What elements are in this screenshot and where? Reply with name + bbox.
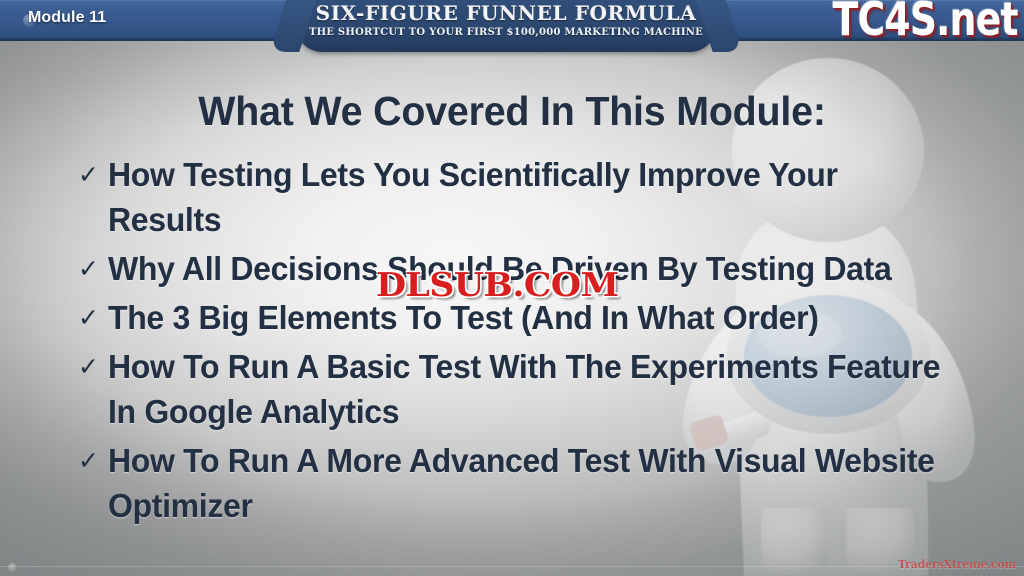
module-label: Module 11 [28, 9, 106, 27]
footer-watermark: TradersXtreme.com [898, 558, 1016, 571]
covered-topics-list: ✓ How Testing Lets You Scientifically Im… [74, 152, 974, 532]
check-icon: ✓ [74, 152, 108, 197]
page-title: What We Covered In This Module: [20, 90, 1003, 133]
list-item-label: How To Run A More Advanced Test With Vis… [108, 438, 948, 528]
list-item: ✓ How Testing Lets You Scientifically Im… [74, 152, 974, 242]
slide-canvas: Module 11 SIX-FIGURE FUNNEL FORMULA THE … [0, 0, 1024, 576]
course-banner: SIX-FIGURE FUNNEL FORMULA THE SHORTCUT T… [296, 0, 716, 52]
footer-divider [0, 566, 1024, 567]
check-icon: ✓ [74, 344, 108, 389]
list-item-label: How Testing Lets You Scientifically Impr… [108, 152, 948, 242]
list-item: ✓ How To Run A More Advanced Test With V… [74, 438, 974, 528]
course-banner-title: SIX-FIGURE FUNNEL FORMULA [296, 1, 716, 25]
brand-watermark: TC4S.net [833, 0, 1018, 42]
course-banner-subtitle: THE SHORTCUT TO YOUR FIRST $100,000 MARK… [296, 27, 716, 38]
overlay-watermark: DLSUB.COM [376, 268, 618, 301]
check-icon: ✓ [74, 295, 108, 340]
footer-dot [8, 563, 17, 572]
check-icon: ✓ [74, 438, 108, 483]
check-icon: ✓ [74, 246, 108, 291]
list-item-label: How To Run A Basic Test With The Experim… [108, 344, 948, 434]
list-item: ✓ How To Run A Basic Test With The Exper… [74, 344, 974, 434]
